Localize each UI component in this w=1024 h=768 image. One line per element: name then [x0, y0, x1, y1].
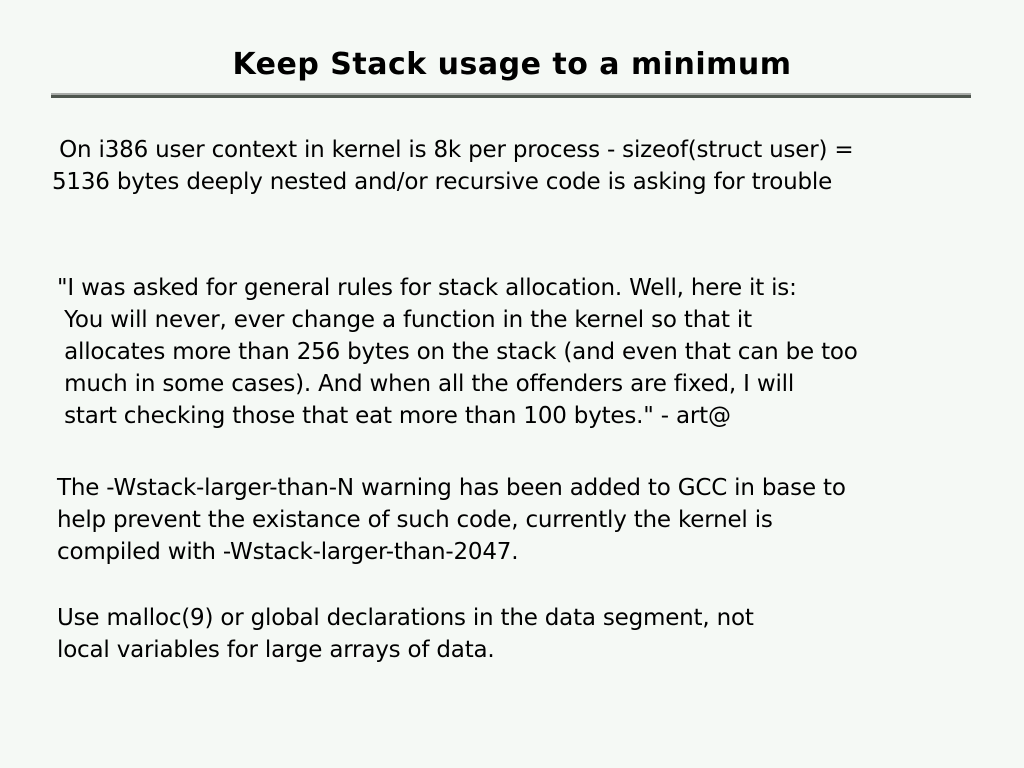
presentation-slide: Keep Stack usage to a minimum On i386 us…	[0, 0, 1024, 768]
page-title: Keep Stack usage to a minimum	[0, 48, 1024, 82]
gcc-warning-paragraph: The -Wstack-larger-than-N warning has be…	[57, 472, 987, 568]
malloc-advice-paragraph: Use malloc(9) or global declarations in …	[57, 602, 987, 666]
title-divider-rule	[51, 92, 971, 98]
intro-paragraph: On i386 user context in kernel is 8k per…	[52, 134, 992, 198]
stack-allocation-quote: "I was asked for general rules for stack…	[57, 272, 987, 432]
